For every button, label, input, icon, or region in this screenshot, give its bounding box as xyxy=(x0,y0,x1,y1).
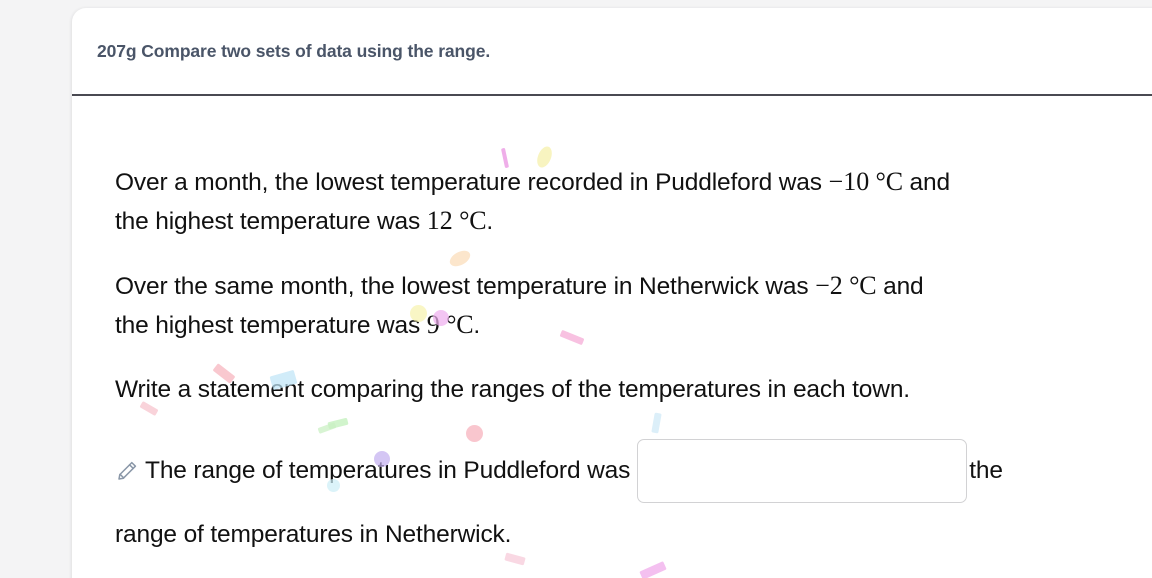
p1-line2-text-before: the highest temperature was xyxy=(115,208,427,235)
p1-line2-value: 12 xyxy=(427,206,453,235)
question-instruction: Write a statement comparing the ranges o… xyxy=(115,371,1152,409)
page-title: 207g Compare two sets of data using the … xyxy=(97,41,490,62)
p2-line1-value: −2 xyxy=(815,271,843,300)
app-root: 207g Compare two sets of data using the … xyxy=(0,0,1152,578)
card-header: 207g Compare two sets of data using the … xyxy=(72,8,1152,94)
answer-input[interactable] xyxy=(637,439,967,503)
question-paragraph-1: Over a month, the lowest temperature rec… xyxy=(115,163,1152,241)
p2-line2-text-before: the highest temperature was xyxy=(115,312,427,339)
p1-line1-text-before: Over a month, the lowest temperature rec… xyxy=(115,169,829,196)
answer-row-first-line: The range of temperatures in Puddleford … xyxy=(115,439,1152,503)
p2-line1-text-before: Over the same month, the lowest temperat… xyxy=(115,273,815,300)
p1-line1-unit: °C xyxy=(869,167,903,196)
question-card: 207g Compare two sets of data using the … xyxy=(72,8,1152,578)
answer-prefix-text: The range of temperatures in Puddleford … xyxy=(145,445,630,497)
card-body: Over a month, the lowest temperature rec… xyxy=(72,95,1152,578)
p2-line2-value: 9 xyxy=(427,310,440,339)
question-paragraph-2: Over the same month, the lowest temperat… xyxy=(115,267,1152,345)
pencil-icon xyxy=(115,459,139,483)
p2-line1-unit: °C xyxy=(843,271,877,300)
p2-line2-unit: °C xyxy=(440,310,474,339)
p1-line1-text-after: and xyxy=(903,169,950,196)
answer-suffix-text: range of temperatures in Netherwick. xyxy=(115,509,1152,561)
p2-line2-text-after: . xyxy=(473,312,480,339)
p1-line2-unit: °C xyxy=(453,206,487,235)
p1-line2-text-after: . xyxy=(486,208,493,235)
answer-block: The range of temperatures in Puddleford … xyxy=(115,439,1152,561)
answer-middle-text: the xyxy=(969,445,1003,497)
p2-line1-text-after: and xyxy=(876,273,923,300)
p1-line1-value: −10 xyxy=(829,167,870,196)
